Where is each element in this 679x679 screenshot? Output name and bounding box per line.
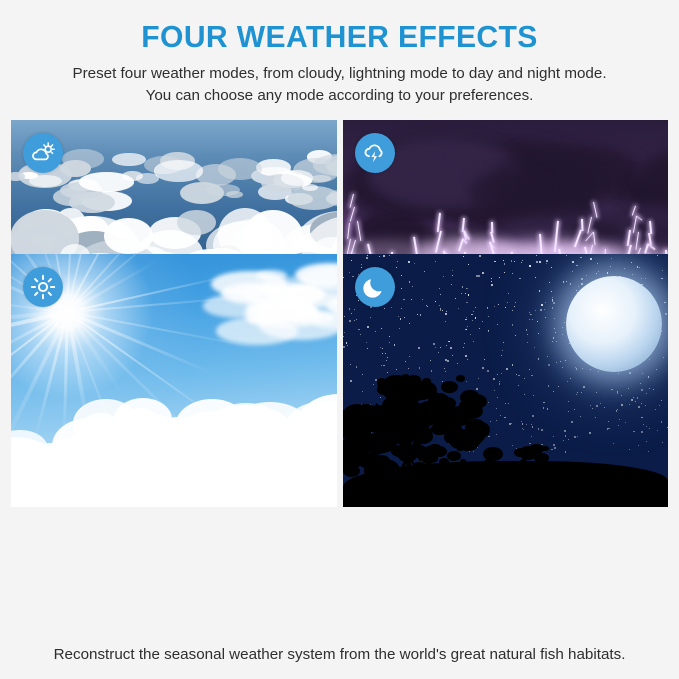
weather-effects-infographic: FOUR WEATHER EFFECTS Preset four weather…	[0, 0, 679, 679]
subtitle-line-1: Preset four weather modes, from cloudy, …	[15, 63, 665, 85]
footer-caption: Reconstruct the seasonal weather system …	[0, 646, 679, 663]
subtitle-line-2: You can choose any mode according to you…	[15, 85, 665, 107]
panel-day[interactable]	[11, 254, 337, 507]
sun-icon	[23, 267, 63, 307]
full-moon	[566, 276, 662, 372]
moon-icon	[355, 267, 395, 307]
subtitle: Preset four weather modes, from cloudy, …	[15, 63, 665, 107]
cloud-sun-icon	[23, 133, 63, 173]
page-title: FOUR WEATHER EFFECTS	[10, 20, 669, 54]
header: FOUR WEATHER EFFECTS Preset four weather…	[0, 0, 679, 107]
cloud-lightning-icon	[355, 133, 395, 173]
weather-mode-grid	[11, 120, 668, 380]
panel-night[interactable]	[343, 254, 669, 507]
